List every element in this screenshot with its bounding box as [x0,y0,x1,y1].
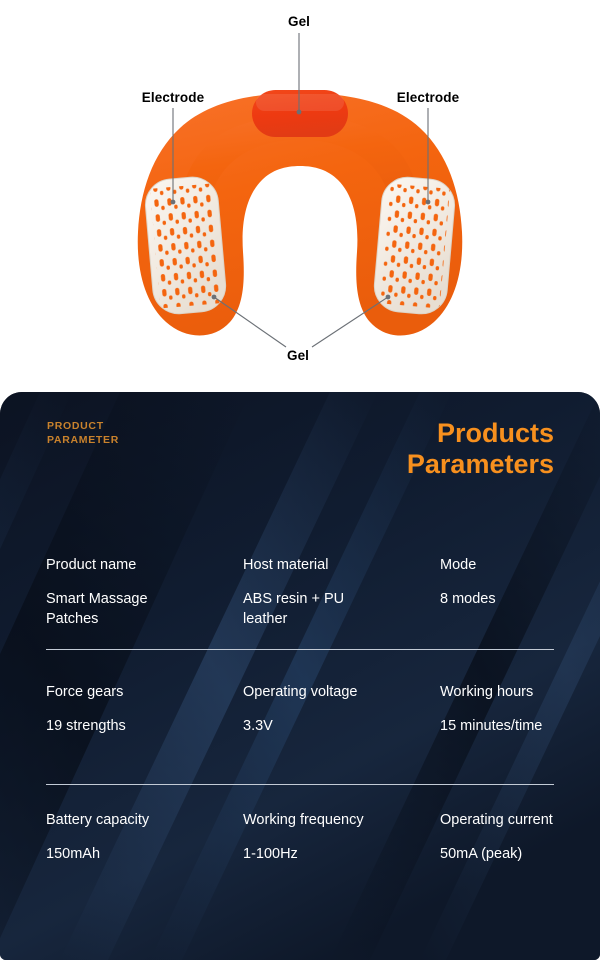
spec-cell: Battery capacity 150mAh [46,811,226,864]
spec-cell: Operating voltage 3.3V [243,683,423,736]
spec-value: 1-100Hz [243,844,423,864]
spec-cell: Force gears 19 strengths [46,683,226,736]
product-parameters-panel: PRODUCT PARAMETER Products Parameters Pr… [0,392,600,960]
spec-value: 3.3V [243,716,423,736]
spec-cell: Mode 8 modes [440,556,600,609]
spec-value: 50mA (peak) [440,844,600,864]
electrode-pad-right [372,175,456,316]
spec-key: Battery capacity [46,811,226,829]
spec-cell: Working hours 15 minutes/time [440,683,600,736]
spec-cell: Working frequency 1-100Hz [243,811,423,864]
spec-value: 15 minutes/time [440,716,600,736]
product-diagram: Gel Electrode Electrode Gel [0,0,600,392]
row-divider [46,649,554,650]
spec-key: Product name [46,556,226,574]
page-title: Products Parameters [407,418,554,480]
callout-label-gel-bottom: Gel [287,348,309,363]
spec-key: Mode [440,556,600,574]
spec-key: Working frequency [243,811,423,829]
row-divider [46,784,554,785]
device-illustration [0,0,600,392]
callout-label-electrode-right: Electrode [397,90,459,105]
spec-key: Host material [243,556,423,574]
gel-pad-highlight [256,94,344,111]
spec-cell: Product name Smart Massage Patches [46,556,226,629]
spec-key: Working hours [440,683,600,701]
spec-key: Force gears [46,683,226,701]
spec-value: 19 strengths [46,716,226,736]
spec-key: Operating voltage [243,683,423,701]
spec-cell: Operating current 50mA (peak) [440,811,600,864]
panel-eyebrow: PRODUCT PARAMETER [47,419,119,447]
spec-cell: Host material ABS resin + PU leather [243,556,423,629]
spec-key: Operating current [440,811,600,829]
callout-label-electrode-left: Electrode [142,90,204,105]
spec-value: 150mAh [46,844,226,864]
spec-value: Smart Massage Patches [46,589,226,629]
callout-label-gel-top: Gel [288,14,310,29]
spec-value: 8 modes [440,589,600,609]
spec-value: ABS resin + PU leather [243,589,423,629]
electrode-pad-left [143,175,227,316]
